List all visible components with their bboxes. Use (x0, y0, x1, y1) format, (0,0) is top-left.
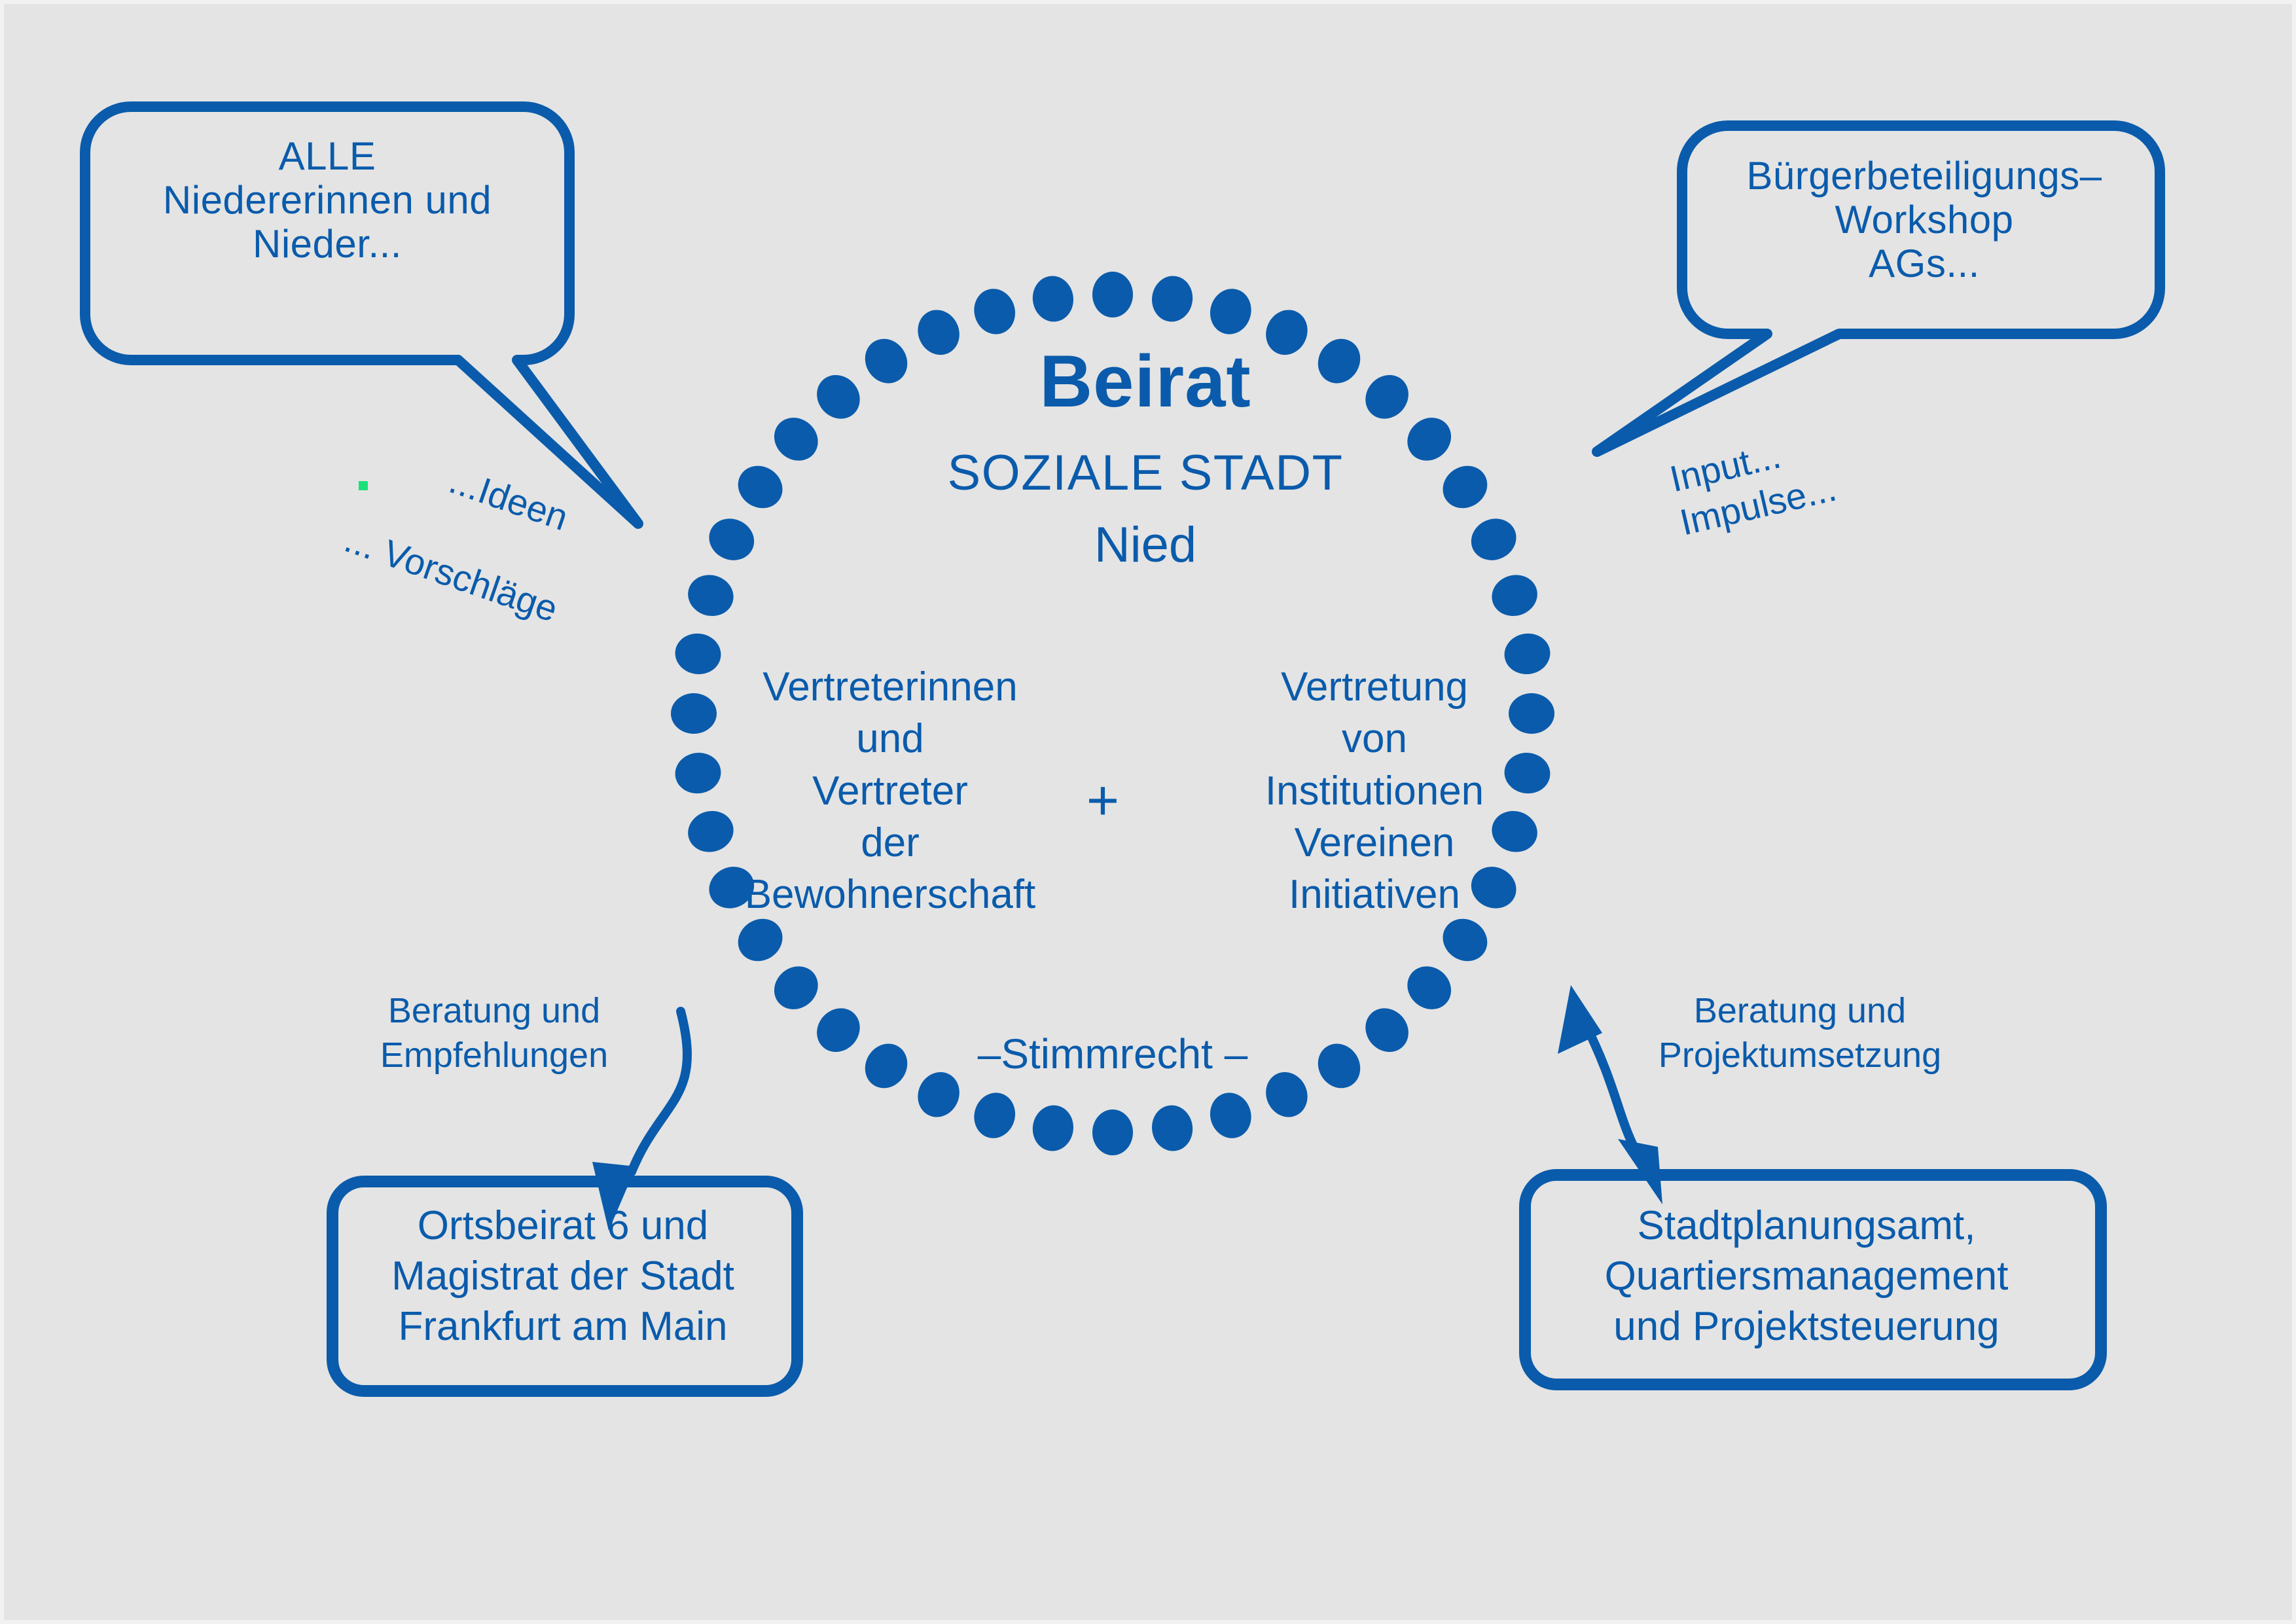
ring-dot (1092, 1110, 1133, 1155)
ring-dot (1357, 1000, 1418, 1061)
hub-column-institutions: Vertretung von Institutionen Vereinen In… (1198, 661, 1551, 921)
speech-bubble-top-right-label: Bürgerbeteiligungs– Workshop AGs... (1695, 154, 2153, 286)
box-stadtplanungsamt-label: Stadtplanungsamt, Quartiersmanagement un… (1518, 1201, 2094, 1352)
ring-dot (766, 958, 827, 1019)
ring-dot (683, 569, 739, 621)
ring-dot (1149, 273, 1195, 324)
ring-dot (1030, 273, 1076, 324)
plus-icon: + (1060, 772, 1145, 829)
green-marker-dot (359, 481, 368, 490)
hub-subtitle-line1: SOZIALE STADT (805, 445, 1486, 501)
diagram-canvas: ALLE Niedererinnen und Nieder... Bürgerb… (0, 0, 2296, 1624)
ring-dot (1030, 1102, 1076, 1153)
label-beratung-projektumsetzung: Beratung und Projektumsetzung (1630, 988, 1970, 1077)
box-ortsbeirat-label: Ortsbeirat 6 und Magistrat der Stadt Fra… (327, 1201, 798, 1352)
ring-dot (1092, 272, 1133, 317)
ring-dot (1149, 1102, 1195, 1153)
ring-dot (1487, 569, 1543, 621)
ring-dot (702, 511, 761, 567)
hub-subtitle-line2: Nied (805, 517, 1486, 573)
ring-dot (969, 1088, 1020, 1144)
label-beratung-empfehlungen: Beratung und Empfehlungen (347, 988, 641, 1077)
ring-dot (969, 284, 1020, 340)
hub-title: Beirat (805, 340, 1486, 422)
hub-column-residents: Vertreterinnen und Vertreter der Bewohne… (687, 661, 1093, 921)
ring-dot (1205, 1088, 1257, 1144)
ring-dot (1205, 284, 1257, 340)
hub-footnote-stimmrecht: –Stimmrecht – (884, 1031, 1342, 1078)
speech-bubble-top-left-label: ALLE Niedererinnen und Nieder... (98, 134, 556, 266)
ring-dot (1399, 958, 1460, 1019)
ring-dot (730, 458, 790, 516)
ring-dot (808, 1000, 869, 1061)
